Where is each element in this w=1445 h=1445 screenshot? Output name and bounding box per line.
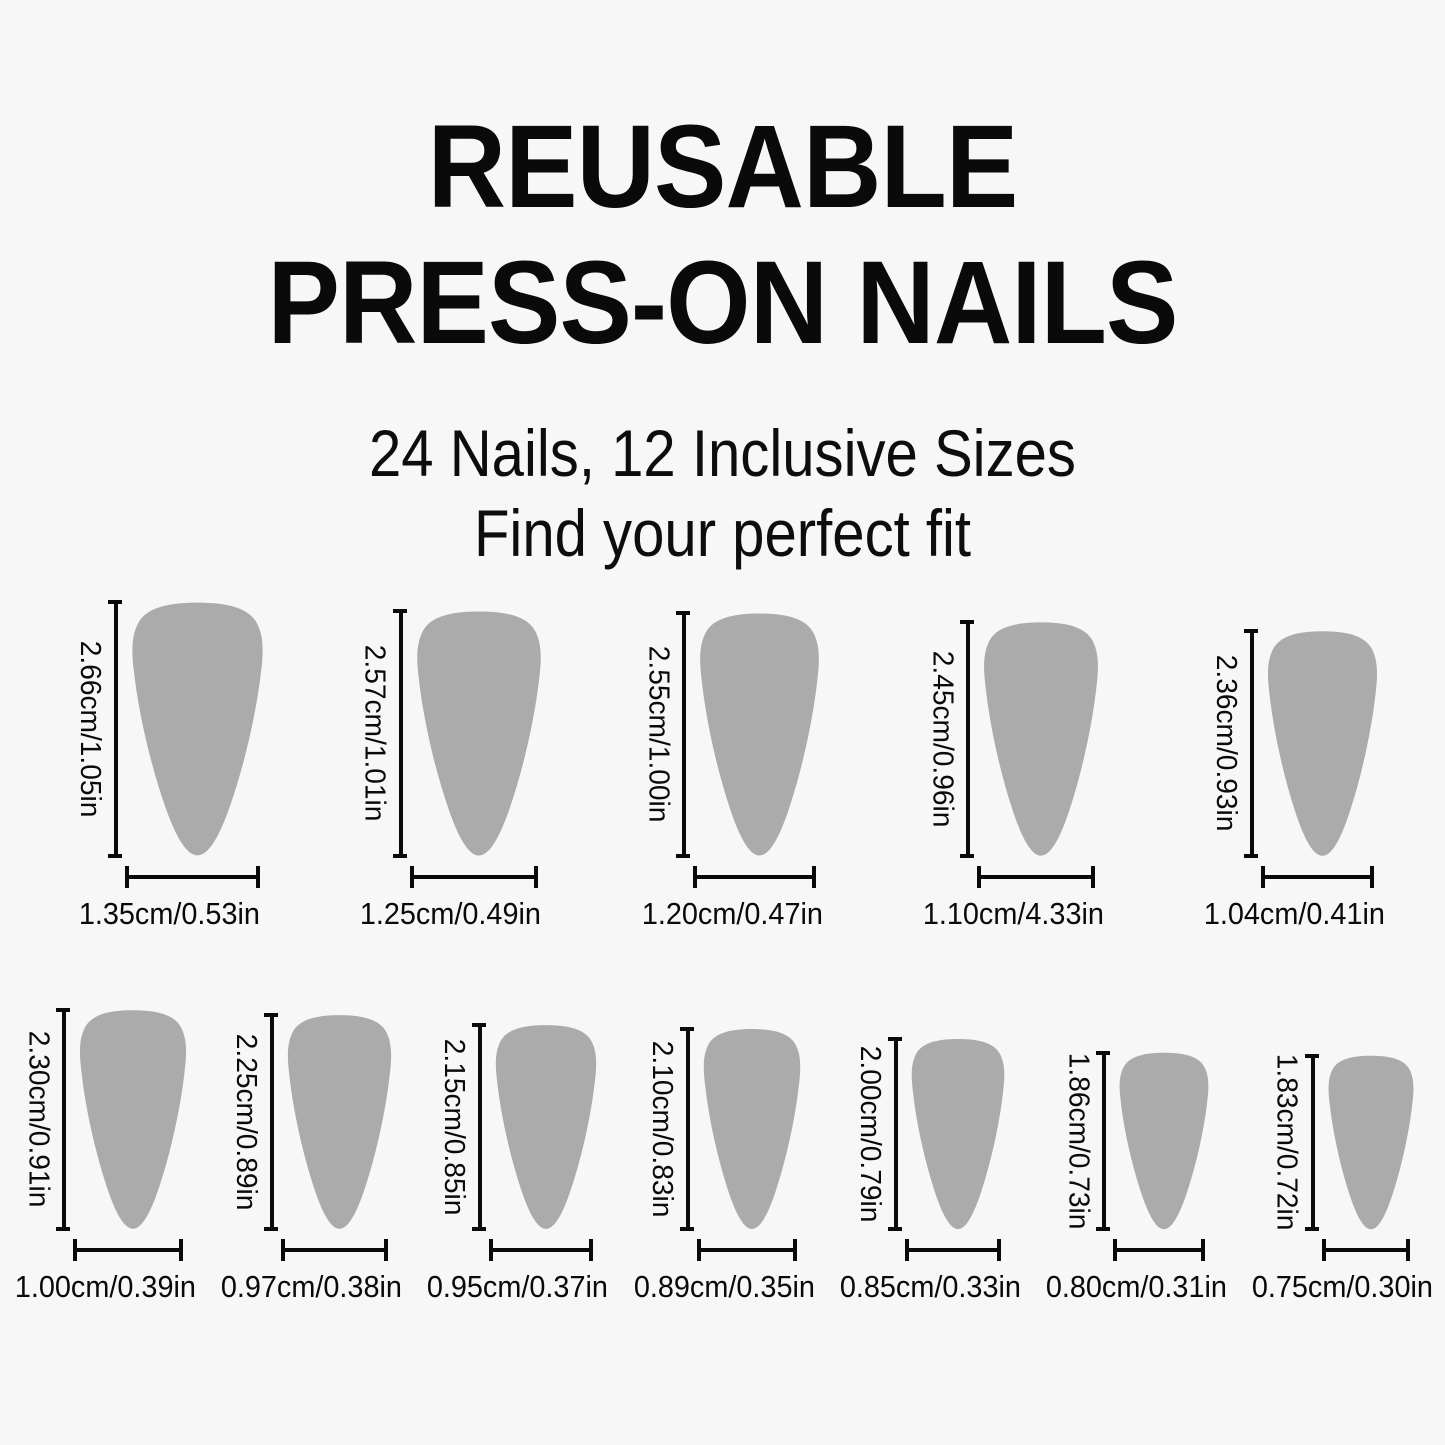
height-dimension-cap-bottom [393, 854, 407, 858]
nail-diagram: 2.30cm/0.91in [22, 1008, 188, 1231]
nail-diagram: 2.57cm/1.01in [359, 609, 543, 858]
height-dimension-cap-bottom [264, 1227, 278, 1231]
height-dimension-stem [399, 609, 403, 858]
width-dimension-line [697, 1239, 797, 1261]
nail-size-cell: 2.30cm/0.91in1.00cm/0.39in [8, 1008, 203, 1304]
width-dimension-line [489, 1239, 593, 1261]
nail-shape [286, 1013, 393, 1231]
nail-shape [1266, 629, 1379, 858]
height-dimension-label: 2.57cm/1.01in [359, 613, 393, 855]
width-dimension-cap-left [281, 1239, 285, 1261]
width-dimension-line [1322, 1239, 1410, 1261]
height-dimension-stem [1102, 1051, 1106, 1231]
height-dimension: 2.30cm/0.91in [22, 1008, 70, 1231]
nail-shape-svg [494, 1023, 598, 1231]
width-dimension-cap-right [589, 1239, 593, 1261]
height-dimension-label: 2.66cm/1.05in [74, 604, 108, 854]
height-dimension: 2.25cm/0.89in [230, 1013, 278, 1231]
height-dimension-cap-top [108, 600, 122, 604]
nail-size-cell: 2.55cm/1.00in1.20cm/0.47in [635, 611, 830, 931]
height-dimension: 2.15cm/0.85in [438, 1023, 486, 1231]
width-dimension-stem [697, 1248, 797, 1252]
height-dimension: 2.00cm/0.79in [854, 1037, 902, 1231]
height-dimension-cap-bottom [960, 854, 974, 858]
width-dimension-cap-right [1406, 1239, 1410, 1261]
header: REUSABLE PRESS-ON NAILS 24 Nails, 12 Inc… [0, 0, 1445, 572]
width-dimension-stem [1322, 1248, 1410, 1252]
width-dimension-cap-right [793, 1239, 797, 1261]
width-dimension-line [977, 866, 1095, 888]
height-dimension-cap-top [960, 620, 974, 624]
height-dimension-stem [686, 1027, 690, 1231]
height-dimension-cap-top [56, 1008, 70, 1012]
width-dimension-cap-right [1370, 866, 1374, 888]
nail-shape [494, 1023, 598, 1231]
height-dimension-label: 2.10cm/0.83in [646, 1030, 680, 1228]
height-dimension-cap-bottom [108, 854, 122, 858]
nail-diagram: 2.55cm/1.00in [642, 611, 821, 858]
height-dimension-cap-top [888, 1037, 902, 1041]
nail-size-cell: 2.45cm/0.96in1.10cm/4.33in [916, 620, 1111, 931]
nail-shape [1327, 1054, 1415, 1231]
width-dimension-label: 0.85cm/0.33in [840, 1270, 1021, 1304]
nail-size-cell: 2.15cm/0.85in0.95cm/0.37in [420, 1023, 615, 1304]
width-dimension-line [1261, 866, 1374, 888]
width-dimension-label: 1.10cm/4.33in [923, 897, 1104, 931]
nail-shape-svg [1266, 629, 1379, 858]
height-dimension: 2.55cm/1.00in [642, 611, 690, 858]
width-dimension-line [1113, 1239, 1205, 1261]
height-dimension-line [108, 600, 122, 858]
width-dimension-label: 1.04cm/0.41in [1204, 897, 1385, 931]
height-dimension-label: 2.45cm/0.96in [926, 624, 960, 855]
page-title-line-1: REUSABLE [58, 108, 1387, 226]
height-dimension-line [264, 1013, 278, 1231]
height-dimension-cap-bottom [888, 1227, 902, 1231]
nail-size-cell: 2.10cm/0.83in0.89cm/0.35in [627, 1027, 822, 1304]
nail-diagram: 2.36cm/0.93in [1210, 629, 1379, 858]
height-dimension: 2.36cm/0.93in [1210, 629, 1258, 858]
height-dimension-stem [1311, 1054, 1315, 1231]
height-dimension-stem [270, 1013, 274, 1231]
height-dimension-line [680, 1027, 694, 1231]
width-dimension-line [125, 866, 260, 888]
nail-shape [982, 620, 1100, 858]
nail-size-cell: 2.66cm/1.05in1.35cm/0.53in [72, 600, 267, 931]
width-dimension-label: 1.25cm/0.49in [360, 897, 541, 931]
nail-shape [1118, 1051, 1210, 1231]
height-dimension-cap-top [1244, 629, 1258, 633]
width-dimension-label: 0.75cm/0.30in [1252, 1270, 1433, 1304]
height-dimension-cap-bottom [676, 854, 690, 858]
nail-size-cell: 1.86cm/0.73in0.80cm/0.31in [1039, 1051, 1234, 1304]
width-dimension-cap-left [1113, 1239, 1117, 1261]
height-dimension-cap-top [1305, 1054, 1319, 1058]
width-dimension-cap-right [1201, 1239, 1205, 1261]
nail-shape-svg [1327, 1054, 1415, 1231]
height-dimension-stem [478, 1023, 482, 1231]
nail-diagram: 1.83cm/0.72in [1271, 1054, 1415, 1231]
nail-diagram: 2.10cm/0.83in [646, 1027, 802, 1231]
nail-size-cell: 1.83cm/0.72in0.75cm/0.30in [1245, 1054, 1440, 1304]
nail-diagram: 1.86cm/0.73in [1062, 1051, 1210, 1231]
width-dimension-stem [489, 1248, 593, 1252]
height-dimension-label: 1.86cm/0.73in [1062, 1054, 1096, 1229]
height-dimension-cap-top [472, 1023, 486, 1027]
height-dimension-line [472, 1023, 486, 1231]
height-dimension-cap-top [393, 609, 407, 613]
nail-size-cell: 2.57cm/1.01in1.25cm/0.49in [353, 609, 548, 931]
width-dimension-stem [905, 1248, 1001, 1252]
height-dimension-line [393, 609, 407, 858]
height-dimension-line [1244, 629, 1258, 858]
nail-shape-svg [286, 1013, 393, 1231]
nail-size-cell: 2.36cm/0.93in1.04cm/0.41in [1197, 629, 1392, 931]
width-dimension-cap-left [697, 1239, 701, 1261]
nail-shape-svg [982, 620, 1100, 858]
height-dimension: 1.83cm/0.72in [1271, 1054, 1319, 1231]
height-dimension: 1.86cm/0.73in [1062, 1051, 1110, 1231]
height-dimension-cap-bottom [472, 1227, 486, 1231]
height-dimension-stem [62, 1008, 66, 1231]
height-dimension-cap-top [676, 611, 690, 615]
width-dimension-cap-right [384, 1239, 388, 1261]
height-dimension-line [676, 611, 690, 858]
height-dimension-label: 2.15cm/0.85in [438, 1026, 472, 1228]
height-dimension-stem [114, 600, 118, 858]
width-dimension-cap-left [905, 1239, 909, 1261]
width-dimension-label: 1.35cm/0.53in [79, 897, 260, 931]
width-dimension-line [73, 1239, 183, 1261]
height-dimension: 2.66cm/1.05in [74, 600, 122, 858]
height-dimension-line [56, 1008, 70, 1231]
nail-shape [130, 600, 265, 858]
width-dimension-stem [693, 875, 816, 879]
height-dimension-label: 2.55cm/1.00in [642, 615, 676, 855]
nail-shape-svg [78, 1008, 188, 1231]
height-dimension-cap-top [264, 1013, 278, 1017]
nail-diagram: 2.66cm/1.05in [74, 600, 265, 858]
width-dimension-cap-left [125, 866, 129, 888]
width-dimension-cap-left [73, 1239, 77, 1261]
width-dimension-label: 1.00cm/0.39in [15, 1270, 196, 1304]
width-dimension-cap-left [410, 866, 414, 888]
width-dimension-cap-left [489, 1239, 493, 1261]
width-dimension-label: 0.89cm/0.35in [633, 1270, 814, 1304]
width-dimension-cap-right [179, 1239, 183, 1261]
page-title-line-2: PRESS-ON NAILS [58, 244, 1387, 362]
width-dimension-stem [410, 875, 538, 879]
width-dimension-cap-left [977, 866, 981, 888]
height-dimension-stem [894, 1037, 898, 1231]
height-dimension-label: 2.25cm/0.89in [230, 1016, 264, 1227]
width-dimension-stem [1261, 875, 1374, 879]
nail-size-cell: 2.25cm/0.89in0.97cm/0.38in [214, 1013, 409, 1304]
subtitle-line-2: Find your perfect fit [87, 494, 1359, 572]
nail-shape-svg [1118, 1051, 1210, 1231]
height-dimension: 2.57cm/1.01in [359, 609, 407, 858]
width-dimension-line [905, 1239, 1001, 1261]
height-dimension-stem [682, 611, 686, 858]
subtitle-line-1: 24 Nails, 12 Inclusive Sizes [87, 414, 1359, 492]
height-dimension-cap-top [1096, 1051, 1110, 1055]
width-dimension-cap-left [693, 866, 697, 888]
nail-shape-svg [415, 609, 543, 858]
width-dimension-label: 0.95cm/0.37in [427, 1270, 608, 1304]
width-dimension-stem [1113, 1248, 1205, 1252]
height-dimension-cap-top [680, 1027, 694, 1031]
width-dimension-label: 0.80cm/0.31in [1046, 1270, 1227, 1304]
width-dimension-cap-left [1322, 1239, 1326, 1261]
nail-shape [78, 1008, 188, 1231]
nail-shape [702, 1027, 802, 1231]
height-dimension: 2.10cm/0.83in [646, 1027, 694, 1231]
height-dimension-cap-bottom [56, 1227, 70, 1231]
height-dimension: 2.45cm/0.96in [926, 620, 974, 858]
height-dimension-line [1096, 1051, 1110, 1231]
width-dimension-stem [73, 1248, 183, 1252]
nail-shape-svg [702, 1027, 802, 1231]
height-dimension-stem [966, 620, 970, 858]
nail-shape-svg [130, 600, 265, 858]
height-dimension-line [960, 620, 974, 858]
height-dimension-cap-bottom [1244, 854, 1258, 858]
height-dimension-cap-bottom [1096, 1227, 1110, 1231]
nail-shape [910, 1037, 1006, 1231]
width-dimension-cap-right [256, 866, 260, 888]
height-dimension-cap-bottom [1305, 1227, 1319, 1231]
height-dimension-label: 2.36cm/0.93in [1210, 632, 1244, 854]
width-dimension-line [693, 866, 816, 888]
nail-diagram: 2.15cm/0.85in [438, 1023, 598, 1231]
nail-size-cell: 2.00cm/0.79in0.85cm/0.33in [833, 1037, 1028, 1304]
width-dimension-cap-right [534, 866, 538, 888]
height-dimension-line [888, 1037, 902, 1231]
size-chart-row-1: 2.66cm/1.05in1.35cm/0.53in2.57cm/1.01in1… [72, 600, 1392, 931]
width-dimension-cap-right [812, 866, 816, 888]
height-dimension-label: 2.30cm/0.91in [22, 1011, 56, 1227]
width-dimension-stem [281, 1248, 388, 1252]
width-dimension-line [281, 1239, 388, 1261]
width-dimension-stem [125, 875, 260, 879]
height-dimension-cap-bottom [680, 1227, 694, 1231]
width-dimension-label: 0.97cm/0.38in [221, 1270, 402, 1304]
nail-diagram: 2.45cm/0.96in [926, 620, 1100, 858]
nail-shape-svg [910, 1037, 1006, 1231]
nail-diagram: 2.00cm/0.79in [854, 1037, 1006, 1231]
width-dimension-cap-right [997, 1239, 1001, 1261]
nail-diagram: 2.25cm/0.89in [230, 1013, 393, 1231]
width-dimension-stem [977, 875, 1095, 879]
height-dimension-label: 1.83cm/0.72in [1271, 1057, 1305, 1229]
height-dimension-stem [1250, 629, 1254, 858]
width-dimension-line [410, 866, 538, 888]
height-dimension-label: 2.00cm/0.79in [854, 1040, 888, 1228]
width-dimension-label: 1.20cm/0.47in [641, 897, 822, 931]
nail-shape [698, 611, 821, 858]
height-dimension-line [1305, 1054, 1319, 1231]
nail-shape-svg [698, 611, 821, 858]
width-dimension-cap-left [1261, 866, 1265, 888]
width-dimension-cap-right [1091, 866, 1095, 888]
nail-shape [415, 609, 543, 858]
size-chart-row-2: 2.30cm/0.91in1.00cm/0.39in2.25cm/0.89in0… [8, 1008, 1440, 1304]
